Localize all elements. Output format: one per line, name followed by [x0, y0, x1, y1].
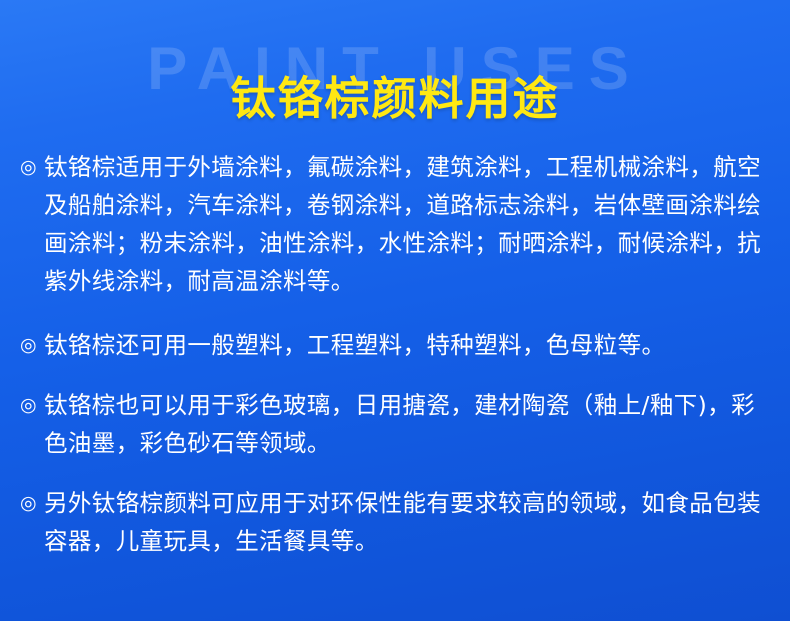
bullet-icon: ◎ — [20, 148, 44, 186]
uses-list: ◎ 钛铬棕适用于外墙涂料，氟碳涂料，建筑涂料，工程机械涂料，航空及船舶涂料，汽车… — [0, 148, 790, 560]
list-item: ◎ 钛铬棕适用于外墙涂料，氟碳涂料，建筑涂料，工程机械涂料，航空及船舶涂料，汽车… — [20, 148, 772, 300]
list-item-text: 钛铬棕还可用一般塑料，工程塑料，特种塑料，色母粒等。 — [44, 326, 772, 364]
bullet-icon: ◎ — [20, 484, 44, 522]
poster-page: PAINT USES 钛铬棕颜料用途 ◎ 钛铬棕适用于外墙涂料，氟碳涂料，建筑涂… — [0, 0, 790, 621]
list-item: ◎ 另外钛铬棕颜料可应用于对环保性能有要求较高的领域，如食品包装容器，儿童玩具，… — [20, 484, 772, 560]
bullet-icon: ◎ — [20, 386, 44, 424]
list-item: ◎ 钛铬棕也可以用于彩色玻璃，日用搪瓷，建材陶瓷（釉上/釉下)，彩色油墨，彩色砂… — [20, 386, 772, 462]
list-item-text: 钛铬棕也可以用于彩色玻璃，日用搪瓷，建材陶瓷（釉上/釉下)，彩色油墨，彩色砂石等… — [44, 386, 772, 462]
list-item-text: 钛铬棕适用于外墙涂料，氟碳涂料，建筑涂料，工程机械涂料，航空及船舶涂料，汽车涂料… — [44, 148, 772, 300]
bullet-icon: ◎ — [20, 326, 44, 364]
list-item-text: 另外钛铬棕颜料可应用于对环保性能有要求较高的领域，如食品包装容器，儿童玩具，生活… — [44, 484, 772, 560]
list-item: ◎ 钛铬棕还可用一般塑料，工程塑料，特种塑料，色母粒等。 — [20, 326, 772, 364]
page-title: 钛铬棕颜料用途 — [0, 62, 790, 127]
